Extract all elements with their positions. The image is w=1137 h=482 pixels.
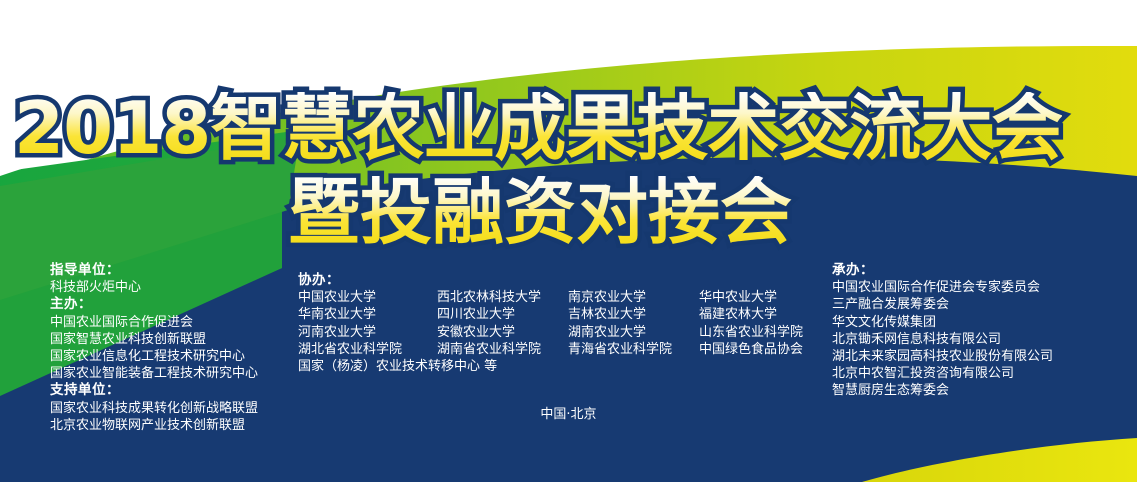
coorganizer-item: 吉林农业大学 — [568, 306, 699, 323]
support-heading: 支持单位： — [50, 382, 258, 399]
venue-label: 中国·北京 — [0, 403, 1137, 422]
host-item: 国家农业信息化工程技术研究中心 — [50, 348, 258, 365]
coorganizer-item: 河南农业大学 — [298, 324, 437, 341]
coorganizer-item: 南京农业大学 — [568, 289, 699, 306]
coorganizer-item: 华南农业大学 — [298, 306, 437, 323]
undertaker-item: 北京锄禾网信息科技有限公司 — [832, 331, 1053, 348]
coorganizer-item: 青海省农业科学院 — [568, 341, 699, 358]
undertaker-item: 三产融合发展筹委会 — [832, 296, 1053, 313]
coorganizer-grid: 中国农业大学 西北农林科技大学 南京农业大学 华中农业大学 华南农业大学 四川农… — [298, 289, 803, 375]
undertaker-item: 湖北未来家园高科技农业股份有限公司 — [832, 348, 1053, 365]
undertaker-column: 承办： 中国农业国际合作促进会专家委员会 三产融合发展筹委会 华文文化传媒集团 … — [832, 262, 1053, 400]
undertaker-item: 华文文化传媒集团 — [832, 314, 1053, 331]
coorganizer-item: 安徽农业大学 — [437, 324, 568, 341]
guidance-item: 科技部火炬中心 — [50, 279, 258, 296]
undertaker-item: 智慧厨房生态筹委会 — [832, 382, 1053, 399]
coorganizer-item: 福建农林大学 — [699, 306, 803, 323]
undertaker-item: 中国农业国际合作促进会专家委员会 — [832, 279, 1053, 296]
coorganizer-item: 中国农业大学 — [298, 289, 437, 306]
coorganizer-item: 西北农林科技大学 — [437, 289, 568, 306]
guidance-heading: 指导单位： — [50, 262, 258, 279]
conference-poster: 2018智慧农业成果技术交流大会 2018智慧农业成果技术交流大会 暨投融资对接… — [0, 0, 1137, 482]
host-item: 国家智慧农业科技创新联盟 — [50, 331, 258, 348]
coorganizer-item: 湖南省农业科学院 — [437, 341, 568, 358]
undertaker-heading: 承办： — [832, 262, 1053, 279]
host-item: 中国农业国际合作促进会 — [50, 314, 258, 331]
coorganizer-item: 中国绿色食品协会 — [699, 341, 803, 358]
host-heading: 主办： — [50, 296, 258, 313]
coorganizer-item: 四川农业大学 — [437, 306, 568, 323]
coorganizer-last-row: 国家（杨凌）农业技术转移中心 等 — [298, 358, 803, 375]
coorganizer-heading: 协办： — [298, 272, 803, 289]
coorganizer-item: 湖北省农业科学院 — [298, 341, 437, 358]
coorganizer-item: 湖南农业大学 — [568, 324, 699, 341]
coorganizer-item: 山东省农业科学院 — [699, 324, 803, 341]
undertaker-item: 北京中农智汇投资咨询有限公司 — [832, 365, 1053, 382]
coorganizer-column: 协办： 中国农业大学 西北农林科技大学 南京农业大学 华中农业大学 华南农业大学… — [298, 272, 803, 375]
coorganizer-item: 华中农业大学 — [699, 289, 803, 306]
host-item: 国家农业智能装备工程技术研究中心 — [50, 365, 258, 382]
